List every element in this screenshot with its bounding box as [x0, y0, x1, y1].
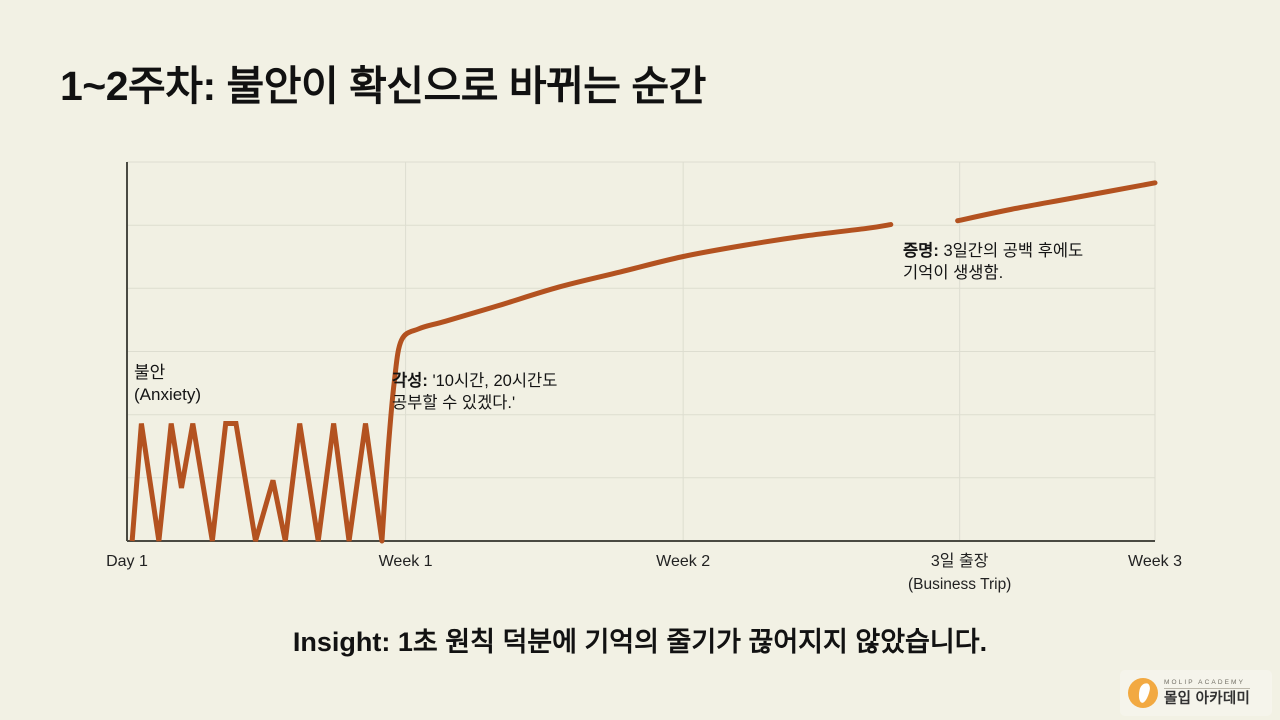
- annotation-awakening-line2: 공부할 수 있겠다.': [392, 392, 557, 414]
- watermark-badge: MOLIP ACADEMY 몰입 아카데미: [1120, 670, 1272, 716]
- annotation-awakening: 각성: '10시간, 20시간도 공부할 수 있겠다.': [392, 370, 557, 415]
- watermark-english: MOLIP ACADEMY: [1164, 680, 1250, 690]
- annotation-proof-line2: 기억이 생생함.: [903, 262, 1083, 284]
- annotation-awakening-line1: 각성: '10시간, 20시간도: [392, 370, 557, 392]
- annotation-proof-text1: 3일간의 공백 후에도: [939, 242, 1083, 260]
- x-tick-label-3: 3일 출장(Business Trip): [908, 551, 1011, 596]
- watermark-korean: 몰입 아카데미: [1164, 692, 1250, 707]
- series-label-line1: 불안: [134, 362, 201, 384]
- x-tick-label-4: Week 3: [1128, 551, 1182, 574]
- data-series: [132, 183, 1155, 541]
- annotation-proof: 증명: 3일간의 공백 후에도 기억이 생생함.: [903, 240, 1083, 285]
- annotation-awakening-bold: 각성:: [392, 372, 428, 390]
- series-label-line2: (Anxiety): [134, 384, 201, 406]
- x-tick-label-main: Week 1: [379, 553, 433, 570]
- series-segment-memory-after-gap: [958, 183, 1155, 221]
- x-tick-label-1: Week 1: [379, 551, 433, 574]
- x-tick-label-main: 3일 출장: [931, 553, 989, 570]
- x-tick-label-2: Week 2: [656, 551, 710, 574]
- annotation-proof-line1: 증명: 3일간의 공백 후에도: [903, 240, 1083, 262]
- page-title: 1~2주차: 불안이 확신으로 바뀌는 순간: [60, 52, 706, 112]
- x-tick-label-main: Day 1: [106, 553, 148, 570]
- insight-caption: Insight: 1초 원칙 덕분에 기억의 줄기가 끊어지지 않았습니다.: [0, 620, 1280, 659]
- annotation-awakening-text1: '10시간, 20시간도: [428, 372, 558, 390]
- axis-lines: [127, 162, 1155, 541]
- x-tick-label-sub: (Business Trip): [908, 574, 1011, 596]
- plot-background: [127, 162, 1155, 541]
- x-tick-label-main: Week 3: [1128, 553, 1182, 570]
- series-segment-anxiety-oscillation: [132, 424, 382, 541]
- series-label-anxiety: 불안 (Anxiety): [134, 362, 201, 407]
- x-tick-label-0: Day 1: [106, 551, 148, 574]
- x-tick-label-main: Week 2: [656, 553, 710, 570]
- molip-logo-icon: [1128, 678, 1158, 708]
- watermark-text: MOLIP ACADEMY 몰입 아카데미: [1164, 680, 1250, 707]
- annotation-proof-bold: 증명:: [903, 242, 939, 260]
- gridlines: [127, 162, 1155, 541]
- slide-root: 1~2주차: 불안이 확신으로 바뀌는 순간 Day 1Week 1Week 2…: [0, 0, 1280, 720]
